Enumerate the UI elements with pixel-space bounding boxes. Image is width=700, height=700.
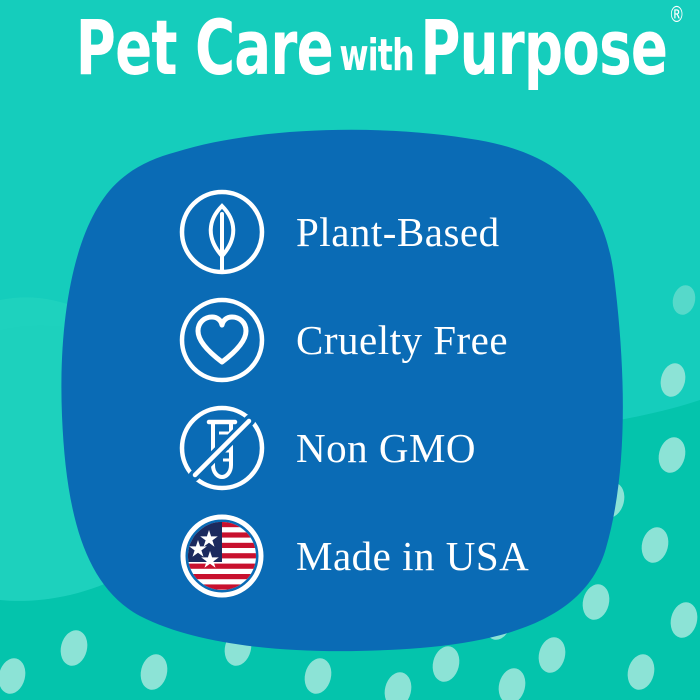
headline-part-1: Pet Care (76, 3, 333, 92)
feature-label: Made in USA (296, 536, 529, 577)
flag-face (186, 522, 258, 590)
leaf-icon (176, 186, 268, 278)
headline-part-3: Purpose (420, 3, 667, 92)
headline: Pet CarewithPurpose® (0, 8, 700, 89)
feature-label: Plant-Based (296, 212, 500, 253)
headline-part-2: with (333, 30, 420, 81)
feature-label: Non GMO (296, 428, 476, 469)
no-gmo-icon (176, 402, 268, 494)
feature-row-made-in-usa: Made in USA (176, 502, 596, 610)
heart-icon (176, 294, 268, 386)
feature-row-cruelty-free: Cruelty Free (176, 286, 596, 394)
feature-list: Plant-Based Cruelty Free (176, 178, 596, 610)
promo-graphic: Pet CarewithPurpose® Plant-Based Cruelty… (0, 0, 700, 700)
headline-text: Pet CarewithPurpose® (76, 8, 682, 89)
usa-flag-icon (176, 510, 268, 602)
registered-trademark-icon: ® (669, 3, 684, 28)
feature-row-plant-based: Plant-Based (176, 178, 596, 286)
feature-row-non-gmo: Non GMO (176, 394, 596, 502)
feature-label: Cruelty Free (296, 320, 508, 361)
